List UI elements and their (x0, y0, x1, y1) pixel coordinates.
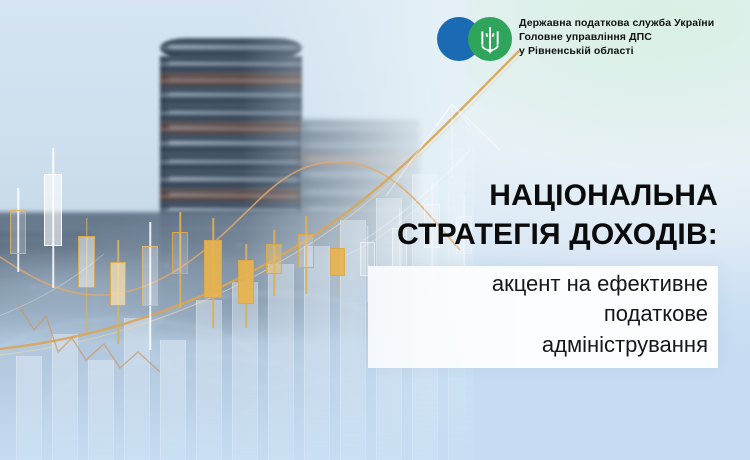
logo-marks (437, 14, 515, 64)
logo-line-2: Головне управління ДПС (519, 31, 714, 45)
subtitle-panel: акцент на ефективне податкове адміністру… (368, 266, 718, 368)
headline-line-1: НАЦІОНАЛЬНА (198, 176, 718, 215)
page-title: НАЦІОНАЛЬНА СТРАТЕГІЯ ДОХОДІВ: (198, 176, 718, 254)
subtitle-line-2: податкове (378, 299, 708, 329)
headline-line-2: СТРАТЕГІЯ ДОХОДІВ: (198, 215, 718, 254)
logo-line-1: Державна податкова служба України (519, 17, 714, 31)
logo[interactable]: Державна податкова служба України Головн… (437, 14, 714, 64)
banner: Державна податкова служба України Головн… (0, 0, 750, 460)
logo-line-3: у Рівненській області (519, 45, 714, 59)
trident-icon (468, 17, 512, 61)
subtitle-line-3: адміністрування (378, 330, 708, 360)
subtitle: акцент на ефективне податкове адміністру… (378, 269, 708, 360)
subtitle-line-1: акцент на ефективне (378, 269, 708, 299)
logo-text: Державна податкова служба України Головн… (519, 14, 714, 59)
green-circle-icon (468, 17, 512, 61)
